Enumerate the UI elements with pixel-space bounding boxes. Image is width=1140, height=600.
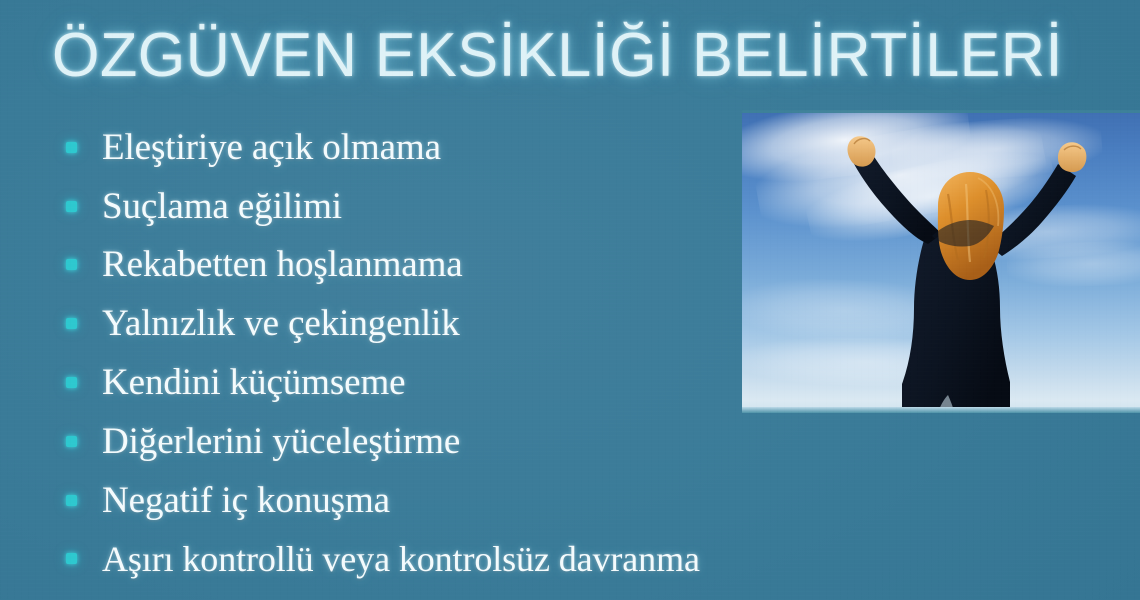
- square-bullet-icon: [66, 142, 77, 153]
- horizon-band: [742, 407, 1140, 413]
- list-item: Negatif iç konuşma: [66, 471, 856, 530]
- square-bullet-icon: [66, 495, 77, 506]
- celebrating-woman-figure: [742, 110, 1140, 413]
- presentation-slide: ÖZGÜVEN EKSİKLİĞİ BELİRTİLERİ Eleştiriye…: [0, 0, 1140, 600]
- list-item: Rekabetten hoşlanmama: [66, 236, 856, 295]
- square-bullet-icon: [66, 436, 77, 447]
- list-item: Kendini küçümseme: [66, 353, 856, 412]
- square-bullet-icon: [66, 318, 77, 329]
- list-item: Eleştiriye açık olmama: [66, 118, 856, 177]
- square-bullet-icon: [66, 553, 77, 564]
- square-bullet-icon: [66, 201, 77, 212]
- sky-photo-background: [742, 110, 1140, 413]
- photo-top-edge: [742, 110, 1140, 113]
- square-bullet-icon: [66, 377, 77, 388]
- symptom-bullet-list: Eleştiriye açık olmama Suçlama eğilimi R…: [66, 118, 856, 588]
- list-item-label: Aşırı kontrollü veya kontrolsüz davranma: [102, 541, 856, 577]
- slide-photo: [742, 110, 1140, 413]
- list-item: Suçlama eğilimi: [66, 177, 856, 236]
- list-item: Yalnızlık ve çekingenlik: [66, 294, 856, 353]
- square-bullet-icon: [66, 259, 77, 270]
- list-item-label: Negatif iç konuşma: [102, 482, 856, 519]
- slide-title: ÖZGÜVEN EKSİKLİĞİ BELİRTİLERİ: [52, 21, 998, 91]
- list-item-label: Diğerlerini yüceleştirme: [102, 423, 856, 460]
- list-item: Aşırı kontrollü veya kontrolsüz davranma: [66, 530, 856, 589]
- list-item: Diğerlerini yüceleştirme: [66, 412, 856, 471]
